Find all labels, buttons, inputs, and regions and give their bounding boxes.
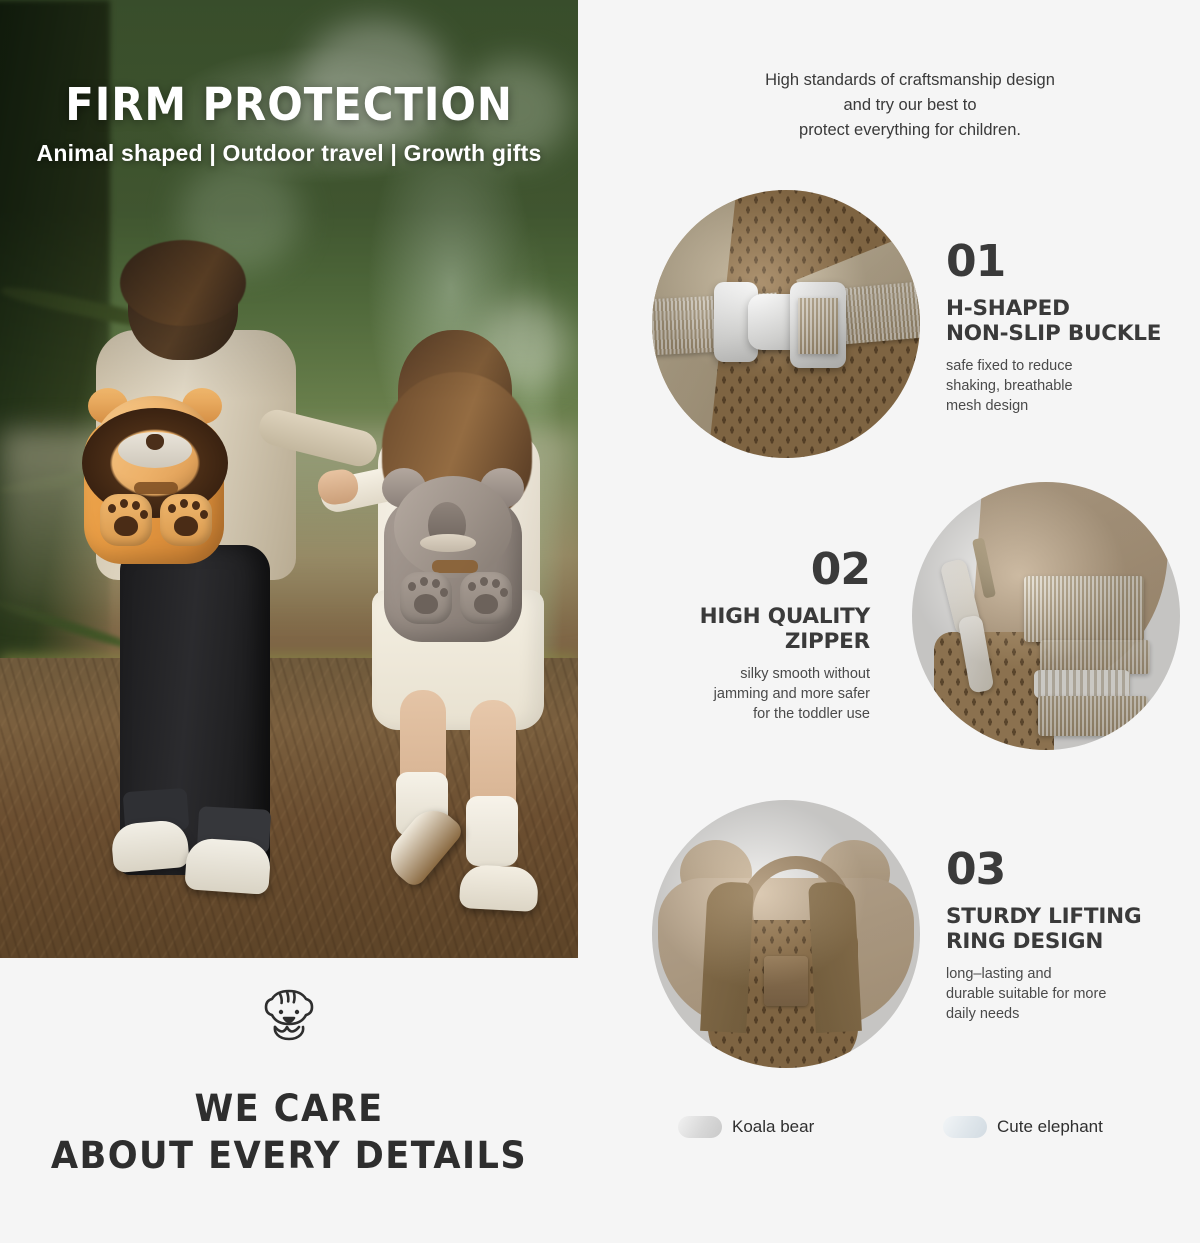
feature-1-title: H-SHAPED NON-SLIP BUCKLE (946, 297, 1166, 347)
paw-toe (480, 577, 488, 586)
swatch-chip-elephant (943, 1116, 987, 1138)
feature-2-desc-line-2: jamming and more safer (648, 684, 870, 704)
tiger-backpack (78, 390, 230, 566)
girl-shoe (459, 864, 539, 912)
feature-1-description: safe fixed to reduce shaking, breathable… (946, 356, 1166, 416)
paw-toe (200, 510, 208, 519)
photo-shading (652, 190, 920, 458)
feature-3-number: 03 (946, 848, 1170, 892)
paw-pocket (460, 572, 512, 624)
paw-toe (168, 504, 176, 513)
boy-shoe (184, 837, 271, 895)
we-care-line-1: WE CARE (14, 1085, 563, 1132)
koala-backpack (378, 468, 528, 646)
paw-pad (174, 516, 198, 536)
feature-2-description: silky smooth without jamming and more sa… (648, 664, 870, 724)
backpack-brand-label (134, 482, 178, 494)
backpack-nose-highlight (420, 534, 476, 552)
paw-toe (192, 501, 200, 510)
photo-shading (912, 482, 1180, 750)
feature-3-desc-line-1: long–lasting and (946, 964, 1170, 984)
paw-pad (114, 516, 138, 536)
we-care-line-2: ABOUT EVERY DETAILS (14, 1132, 563, 1179)
paw-toe (420, 577, 428, 586)
swatch-koala-bear[interactable]: Koala bear (678, 1116, 814, 1138)
photo-shading (652, 800, 920, 1068)
feature-3-description: long–lasting and durable suitable for mo… (946, 964, 1170, 1024)
feature-2-photo (912, 482, 1180, 750)
feature-1-desc-line-3: mesh design (946, 396, 1166, 416)
paw-toe (468, 582, 476, 591)
paw-toe (180, 499, 188, 508)
paw-pad (414, 594, 438, 614)
feature-1-photo (652, 190, 920, 458)
product-infographic: FIRM PROTECTION Animal shaped | Outdoor … (0, 0, 1200, 1243)
feature-2-desc-line-1: silky smooth without (648, 664, 870, 684)
paw-toe (132, 501, 140, 510)
swatch-label-koala: Koala bear (732, 1117, 814, 1137)
paw-toe (120, 499, 128, 508)
feature-3-text: 03 STURDY LIFTING RING DESIGN long–lasti… (946, 848, 1170, 1024)
baby-face-icon (253, 985, 325, 1047)
feature-1-title-line-1: H-SHAPED (946, 297, 1166, 322)
paw-pad (474, 594, 498, 614)
feature-1-title-line-2: NON-SLIP BUCKLE (946, 322, 1166, 347)
paw-toe (108, 504, 116, 513)
backpack-brand-label (432, 560, 478, 573)
boy-shoe (110, 819, 190, 873)
intro-line-2: and try our best to (620, 93, 1200, 118)
paw-pocket (160, 494, 212, 546)
intro-line-1: High standards of craftsmanship design (620, 68, 1200, 93)
feature-3-desc-line-3: daily needs (946, 1004, 1170, 1024)
feature-1-desc-line-1: safe fixed to reduce (946, 356, 1166, 376)
color-swatch-row: Koala bear Cute elephant (620, 1108, 1200, 1158)
girl-sock (466, 796, 518, 866)
feature-3-title: STURDY LIFTING RING DESIGN (946, 905, 1170, 955)
boy-hair (120, 240, 246, 326)
paw-toe (500, 588, 508, 597)
feature-2-title: HIGH QUALITY ZIPPER (648, 605, 870, 655)
we-care-block: WE CARE ABOUT EVERY DETAILS (0, 985, 578, 1180)
hero-subtitle: Animal shaped | Outdoor travel | Growth … (0, 140, 578, 167)
feature-1-desc-line-2: shaking, breathable (946, 376, 1166, 396)
feature-1-text: 01 H-SHAPED NON-SLIP BUCKLE safe fixed t… (946, 240, 1166, 416)
feature-2-desc-line-3: for the toddler use (648, 704, 870, 724)
feature-3-title-line-1: STURDY LIFTING (946, 905, 1170, 930)
feature-3-photo (652, 800, 920, 1068)
feature-2-number: 02 (648, 548, 870, 592)
feature-3-title-line-2: RING DESIGN (946, 930, 1170, 955)
feature-1-number: 01 (946, 240, 1166, 284)
paw-pocket (400, 572, 452, 624)
feature-2-title-line-1: HIGH QUALITY (648, 605, 870, 630)
paw-toe (140, 510, 148, 519)
swatch-chip-koala (678, 1116, 722, 1138)
paw-toe (492, 579, 500, 588)
paw-pocket (100, 494, 152, 546)
intro-line-3: protect everything for children. (620, 118, 1200, 143)
feature-2-text: 02 HIGH QUALITY ZIPPER silky smooth with… (648, 548, 870, 724)
swatch-label-elephant: Cute elephant (997, 1117, 1103, 1137)
hero-title: FIRM PROTECTION (20, 78, 558, 131)
paw-toe (440, 588, 448, 597)
feature-3-desc-line-2: durable suitable for more (946, 984, 1170, 1004)
swatch-cute-elephant[interactable]: Cute elephant (943, 1116, 1103, 1138)
paw-toe (432, 579, 440, 588)
intro-text: High standards of craftsmanship design a… (620, 68, 1200, 143)
feature-2-title-line-2: ZIPPER (648, 630, 870, 655)
hero-lifestyle-photo: FIRM PROTECTION Animal shaped | Outdoor … (0, 0, 578, 958)
backpack-nose (146, 434, 164, 450)
paw-toe (408, 582, 416, 591)
